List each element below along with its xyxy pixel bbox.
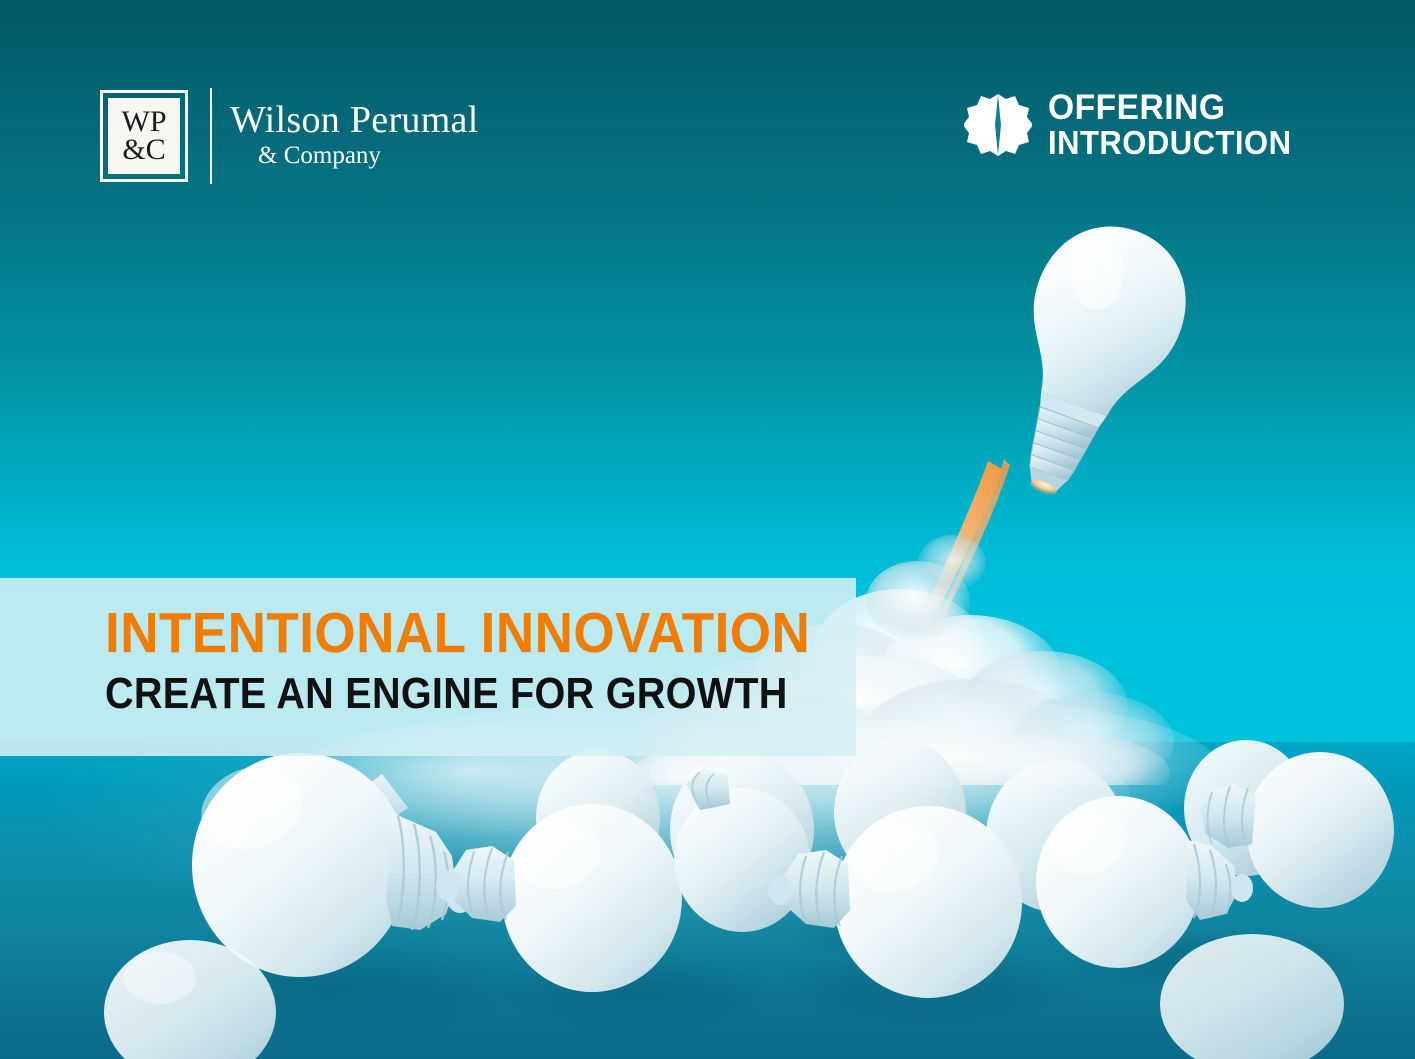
gear-icon [964,92,1032,158]
monogram-line-2: &C [122,136,165,164]
monogram-line-1: WP [122,108,167,136]
brand-logo-lockup[interactable]: WP &C Wilson Perumal & Company [100,86,479,186]
page-subtitle: CREATE AN ENGINE FOR GROWTH [105,669,781,718]
offering-introduction-badge[interactable]: OFFERING INTRODUCTION [964,90,1307,161]
badge-text: OFFERING INTRODUCTION [1048,90,1307,161]
title-banner: INTENTIONAL INNOVATION CREATE AN ENGINE … [0,578,856,756]
badge-line-1: OFFERING [1048,90,1297,126]
logo-divider [210,88,212,184]
brand-name-line-1: Wilson Perumal [230,101,479,140]
lightbulb-rocket-icon [975,215,1205,505]
badge-line-2: INTRODUCTION [1048,126,1291,161]
brand-name-line-2: & Company [230,140,479,171]
wpc-monogram-icon: WP &C [100,90,188,182]
presentation-title-slide: WP &C Wilson Perumal & Company OFFERING … [0,0,1415,1059]
brand-name: Wilson Perumal & Company [230,101,479,171]
page-title: INTENTIONAL INNOVATION [105,604,803,663]
